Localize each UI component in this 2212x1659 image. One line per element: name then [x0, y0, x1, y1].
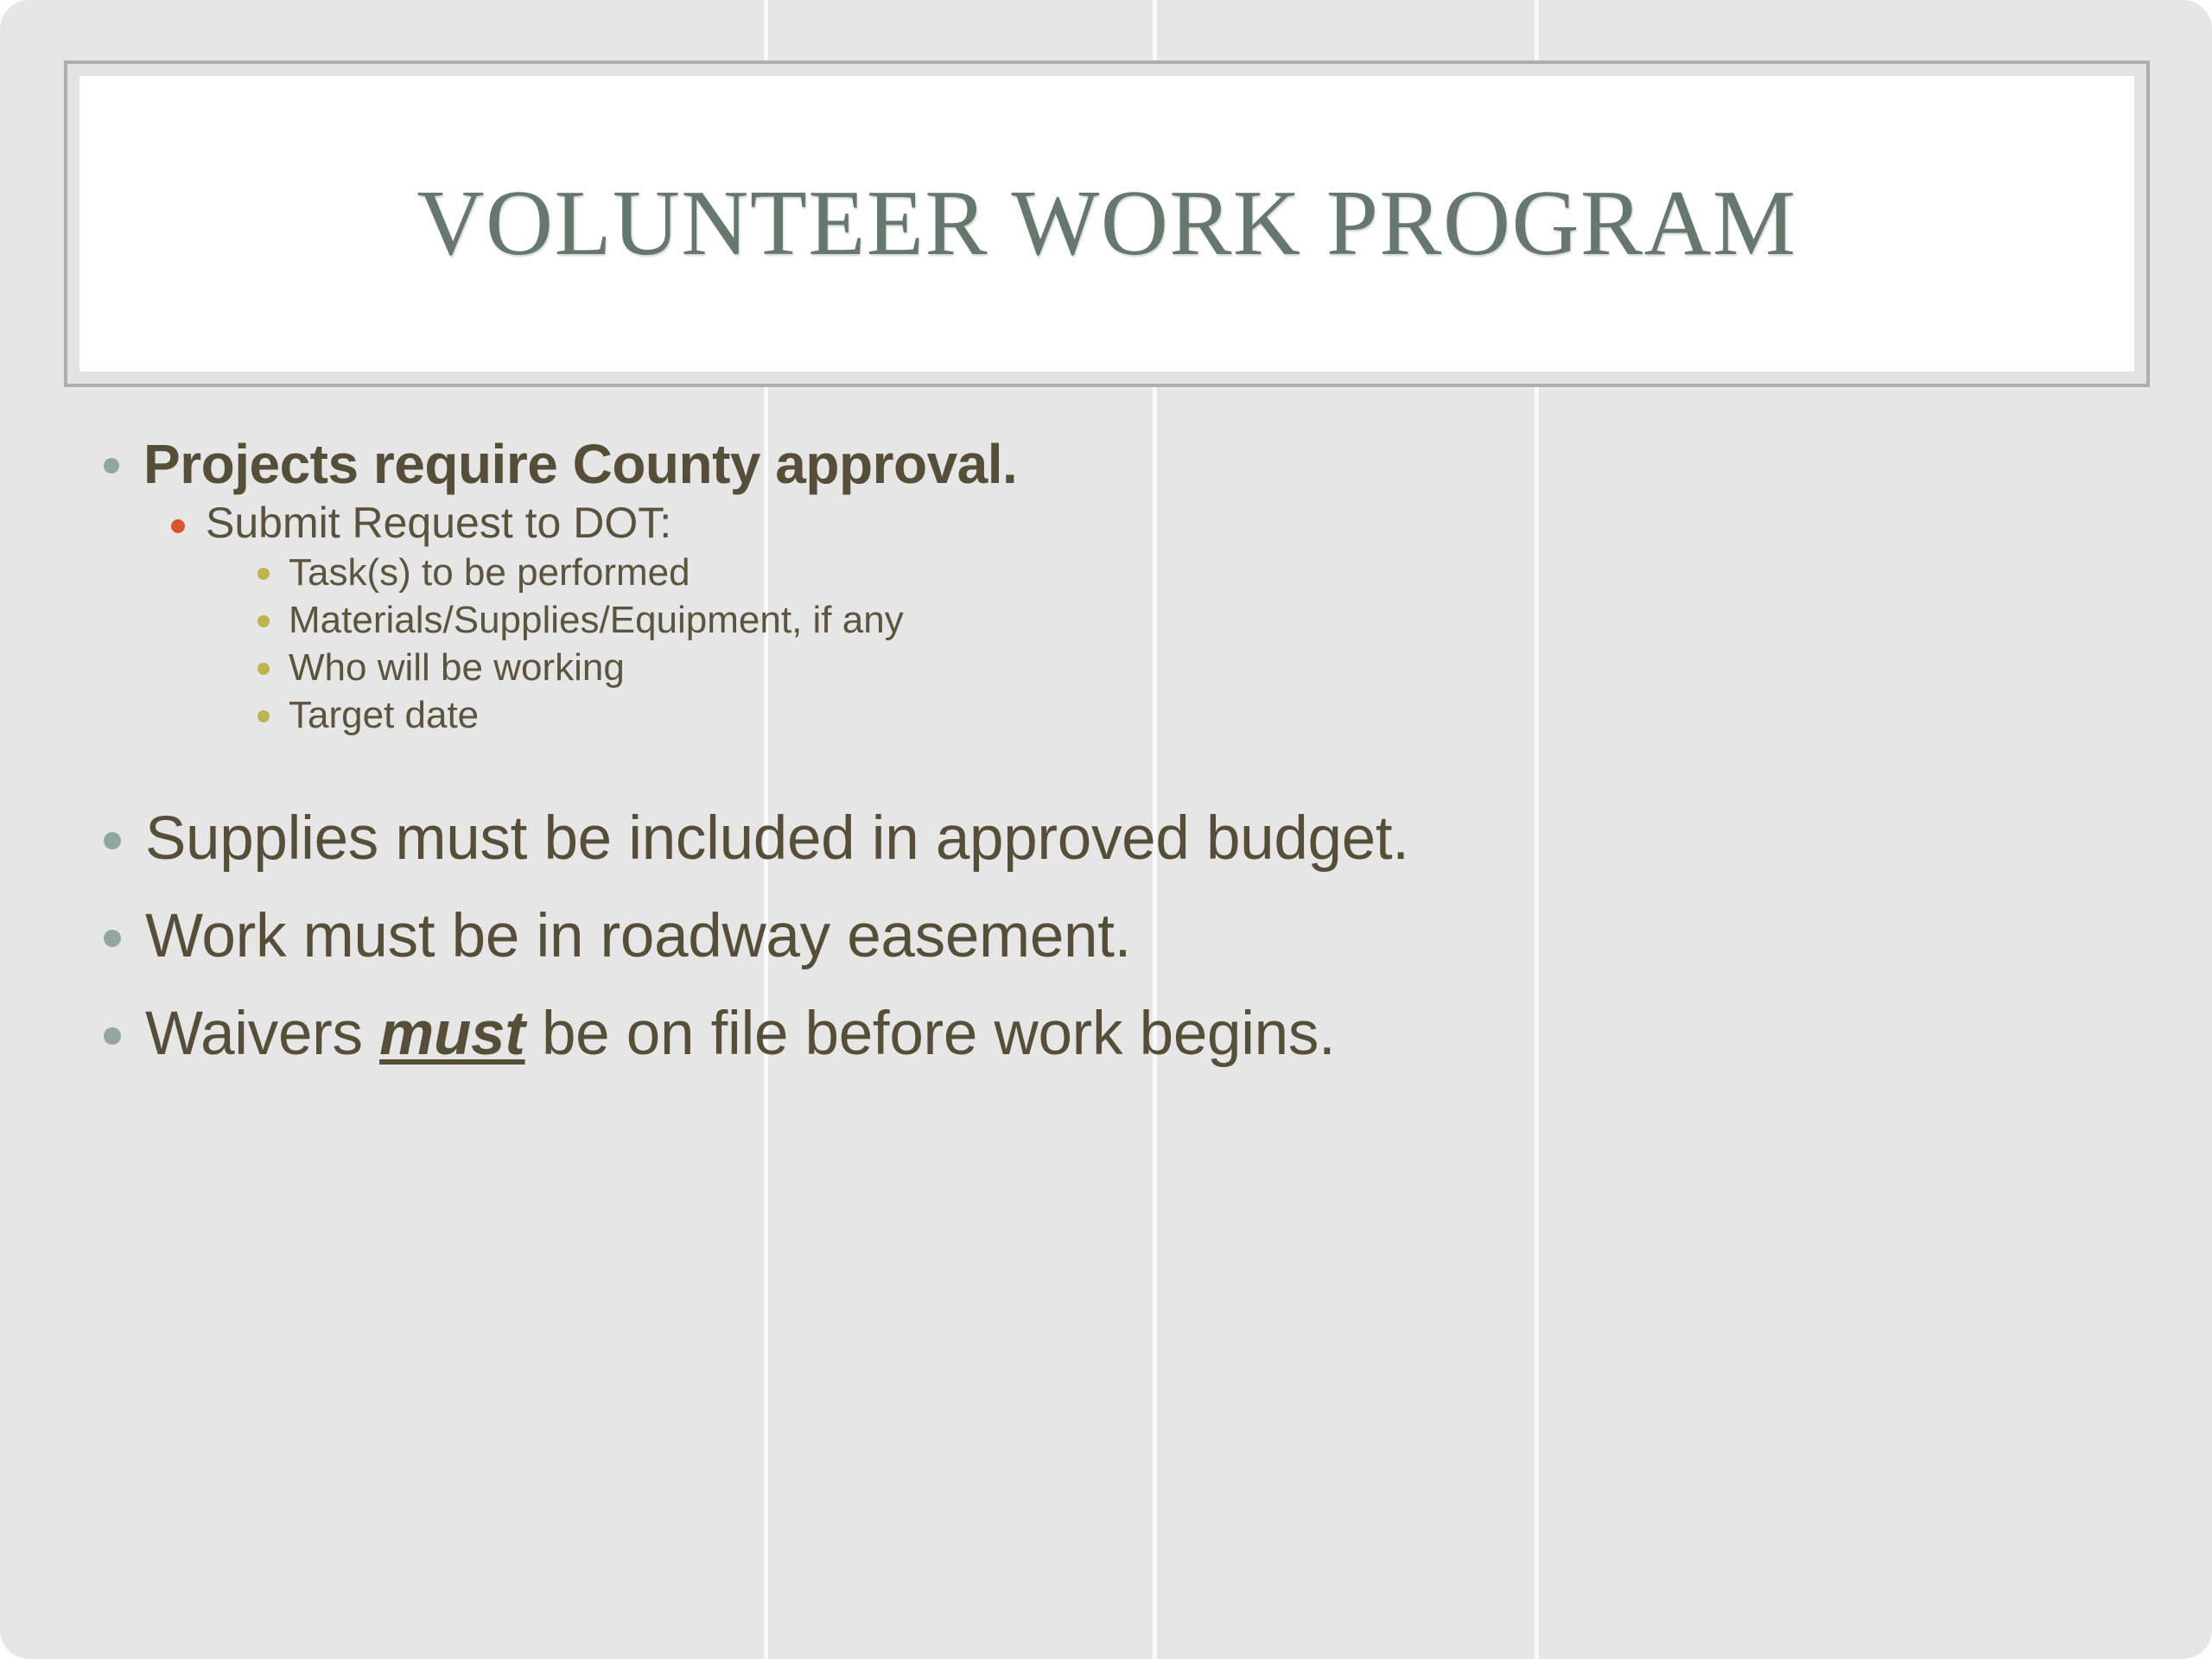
bullet-text: Who will be working: [289, 644, 2134, 691]
bullet-tasks-to-be-performed: Task(s) to be performed: [257, 549, 2134, 596]
bullet-text: Supplies must be included in approved bu…: [145, 803, 2134, 874]
bullet-marker-level1-icon: [104, 930, 121, 947]
bullet-supplies-must-be-included-in-approved-budget: Supplies must be included in approved bu…: [104, 803, 2134, 874]
slide-title-box: Volunteer Work Program: [64, 60, 2150, 387]
bullet-work-must-be-in-roadway-easement: Work must be in roadway easement.: [104, 900, 2134, 972]
bullet-text: Target date: [289, 691, 2134, 739]
bullet-who-will-be-working: Who will be working: [257, 644, 2134, 691]
bullet-submit-request-to-dot: Submit Request to DOT:: [171, 497, 2134, 549]
slide-canvas: Volunteer Work Program Projects require …: [0, 0, 2212, 1659]
bullet-projects-require-county-approval: Projects require County approval.: [104, 432, 2134, 497]
bullet-marker-level1-icon: [104, 832, 121, 849]
spacer: [104, 874, 2134, 900]
bullet-text-prefix: Waivers: [145, 1000, 379, 1068]
bullet-text: Materials/Supplies/Equipment, if any: [289, 596, 2134, 644]
bullet-marker-level1-icon: [104, 458, 119, 474]
slide-body: Projects require County approval. Submit…: [104, 432, 2134, 1070]
bullet-marker-level3-icon: [257, 710, 270, 722]
bullet-text-emphasis: must: [379, 1000, 524, 1068]
bullet-marker-level3-icon: [257, 615, 270, 627]
spacer: [104, 739, 2134, 803]
bullet-marker-level2-icon: [171, 519, 185, 533]
bullet-text-suffix: be on file before work begins.: [525, 1000, 1336, 1068]
bullet-target-date: Target date: [257, 691, 2134, 739]
bullet-marker-level1-icon: [104, 1027, 121, 1045]
bullet-marker-level3-icon: [257, 663, 270, 675]
spacer: [104, 972, 2134, 998]
bullet-text: Projects require County approval.: [143, 432, 2134, 497]
bullet-text: Task(s) to be performed: [289, 549, 2134, 596]
slide-title-inner-panel: Volunteer Work Program: [79, 76, 2134, 372]
bullet-text: Submit Request to DOT:: [206, 497, 2134, 549]
bullet-materials-supplies-equipment: Materials/Supplies/Equipment, if any: [257, 596, 2134, 644]
bullet-waivers-must-be-on-file-before-work-begins: Waivers must be on file before work begi…: [104, 998, 2134, 1070]
page-title: Volunteer Work Program: [416, 175, 1796, 272]
bullet-text: Work must be in roadway easement.: [145, 900, 2134, 972]
bullet-text: Waivers must be on file before work begi…: [145, 998, 2134, 1070]
bullet-marker-level3-icon: [257, 568, 270, 580]
